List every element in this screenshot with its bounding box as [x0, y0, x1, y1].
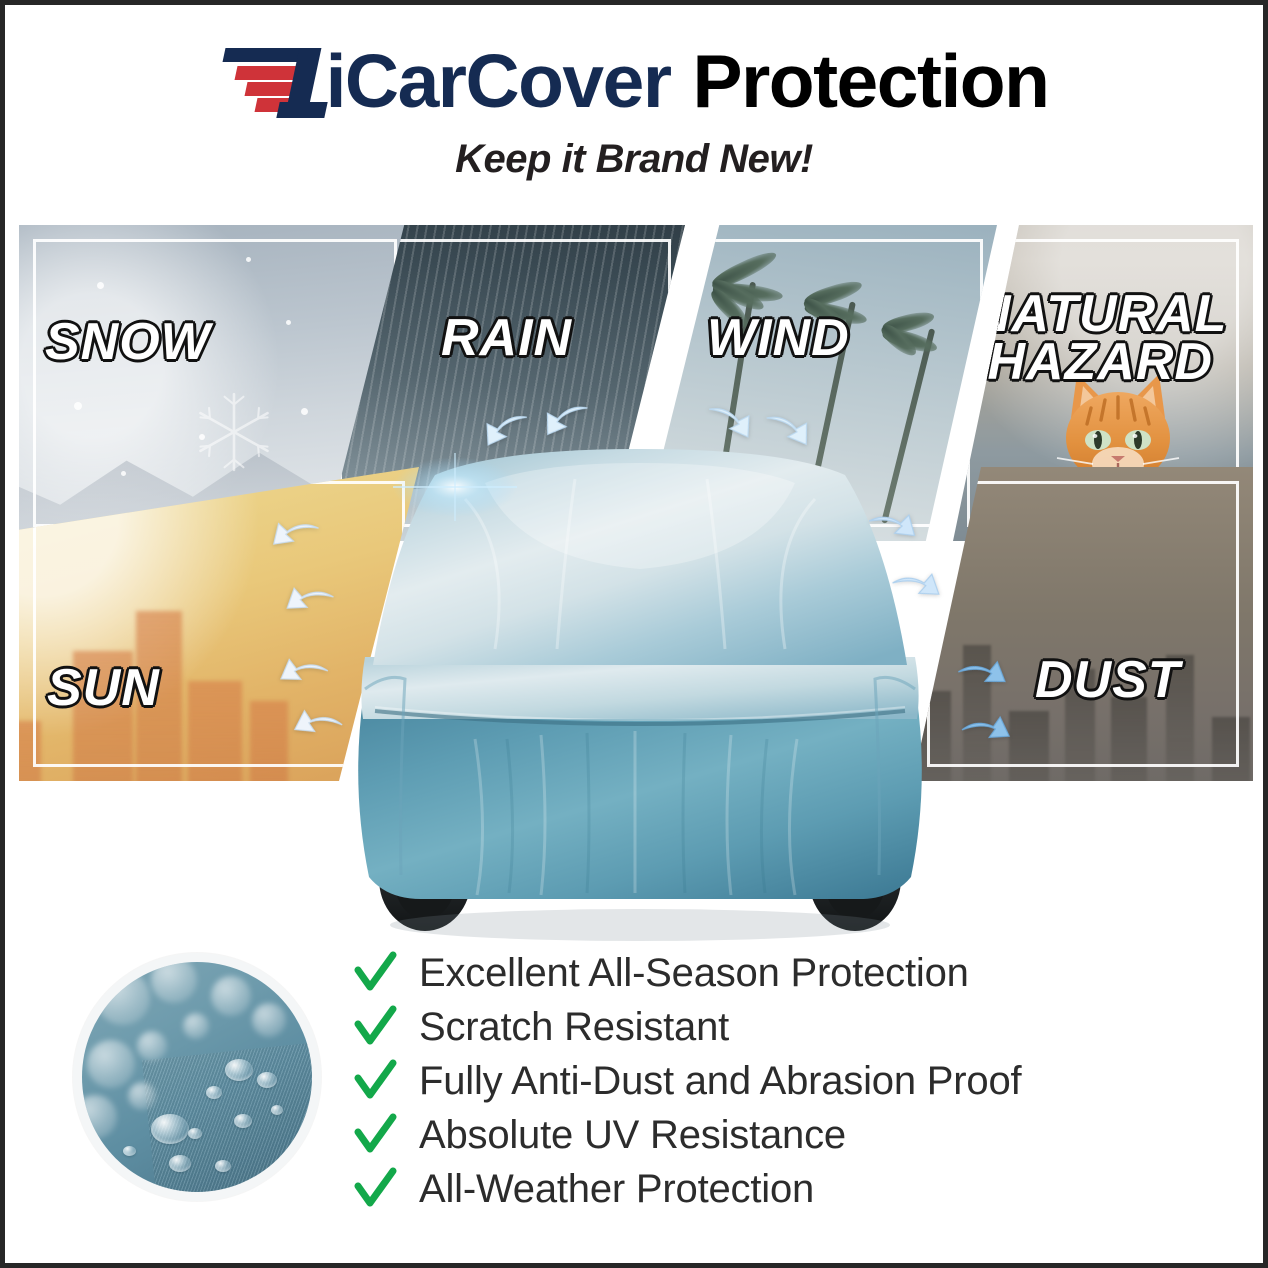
- check-icon: [353, 951, 397, 995]
- deflection-arrow-icon: [472, 407, 536, 461]
- icarcover-logo-icon: [220, 44, 324, 118]
- feature-label: All-Weather Protection: [419, 1169, 814, 1209]
- panel-label-natural-hazard: NATURALHAZARD: [973, 291, 1227, 387]
- feature-item: All-Weather Protection: [353, 1163, 1213, 1215]
- panel-label-dust: DUST: [1035, 655, 1181, 706]
- panel-label-sun: SUN: [47, 663, 160, 714]
- deflection-arrow-icon: [533, 398, 595, 450]
- deflection-arrow-icon: [759, 408, 821, 460]
- feature-label: Scratch Resistant: [419, 1007, 729, 1047]
- check-icon: [353, 1167, 397, 1211]
- panel-label-snow: SNOW: [45, 317, 211, 368]
- headline-word: Protection: [693, 44, 1049, 119]
- covered-car-front-view: [335, 439, 945, 949]
- deflection-arrow-icon: [700, 399, 764, 453]
- feature-item: Scratch Resistant: [353, 1001, 1213, 1053]
- panel-label-hazard: HAZARD: [987, 333, 1213, 391]
- covered-car-image: [335, 439, 945, 949]
- brand-name: iCarCover: [326, 44, 671, 119]
- panel-label-rain: RAIN: [441, 313, 572, 364]
- tagline: Keep it Brand New!: [455, 137, 813, 182]
- check-icon: [353, 1059, 397, 1103]
- panel-label-wind: WIND: [707, 313, 850, 364]
- brand-lockup: iCarCover Protection: [220, 35, 1049, 127]
- check-icon: [353, 1005, 397, 1049]
- feature-item: Excellent All-Season Protection: [353, 947, 1213, 999]
- feature-label: Fully Anti-Dust and Abrasion Proof: [419, 1061, 1021, 1101]
- water-beading-fabric-swatch: [73, 953, 321, 1201]
- feature-item: Absolute UV Resistance: [353, 1109, 1213, 1161]
- feature-list: Excellent All-Season Protection Scratch …: [353, 947, 1213, 1217]
- check-icon: [353, 1113, 397, 1157]
- feature-item: Fully Anti-Dust and Abrasion Proof: [353, 1055, 1213, 1107]
- feature-label: Absolute UV Resistance: [419, 1115, 846, 1155]
- features-footer: Excellent All-Season Protection Scratch …: [5, 935, 1263, 1255]
- snowflake-icon: [191, 389, 277, 475]
- header: iCarCover Protection Keep it Brand New!: [5, 5, 1263, 201]
- deflection-arrow-icon: [260, 511, 324, 565]
- product-infographic: iCarCover Protection Keep it Brand New!: [0, 0, 1268, 1268]
- feature-label: Excellent All-Season Protection: [419, 953, 969, 993]
